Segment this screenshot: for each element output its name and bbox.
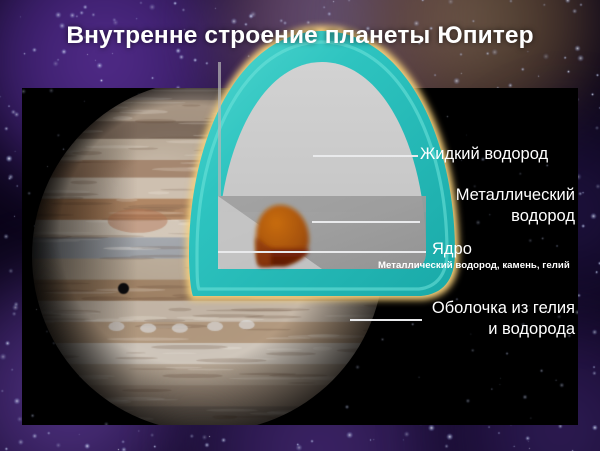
label-helium-hydrogen-envelope: Оболочка из гелия и водорода <box>432 298 575 340</box>
jupiter-planet <box>32 88 384 425</box>
label-sub-core: Металлический водород, камень, гелий <box>378 260 570 272</box>
page-title: Внутренне строение планеты Юпитер <box>0 22 600 50</box>
leader-line-helium-hydrogen-envelope <box>350 319 422 321</box>
leader-line-metallic-hydrogen <box>312 221 420 223</box>
moon-shadow-dot <box>118 283 129 294</box>
leader-line-liquid-hydrogen <box>313 155 418 157</box>
slide-canvas: Внутренне строение планеты Юпитер Жидкий… <box>0 0 600 451</box>
label-metallic-hydrogen: Металлический водород <box>456 185 575 227</box>
planet-image-clip <box>22 88 578 425</box>
leader-line-core <box>218 251 426 253</box>
label-liquid-hydrogen: Жидкий водород <box>420 144 548 165</box>
label-core: Ядро <box>432 239 472 260</box>
jupiter-bands <box>32 88 384 425</box>
